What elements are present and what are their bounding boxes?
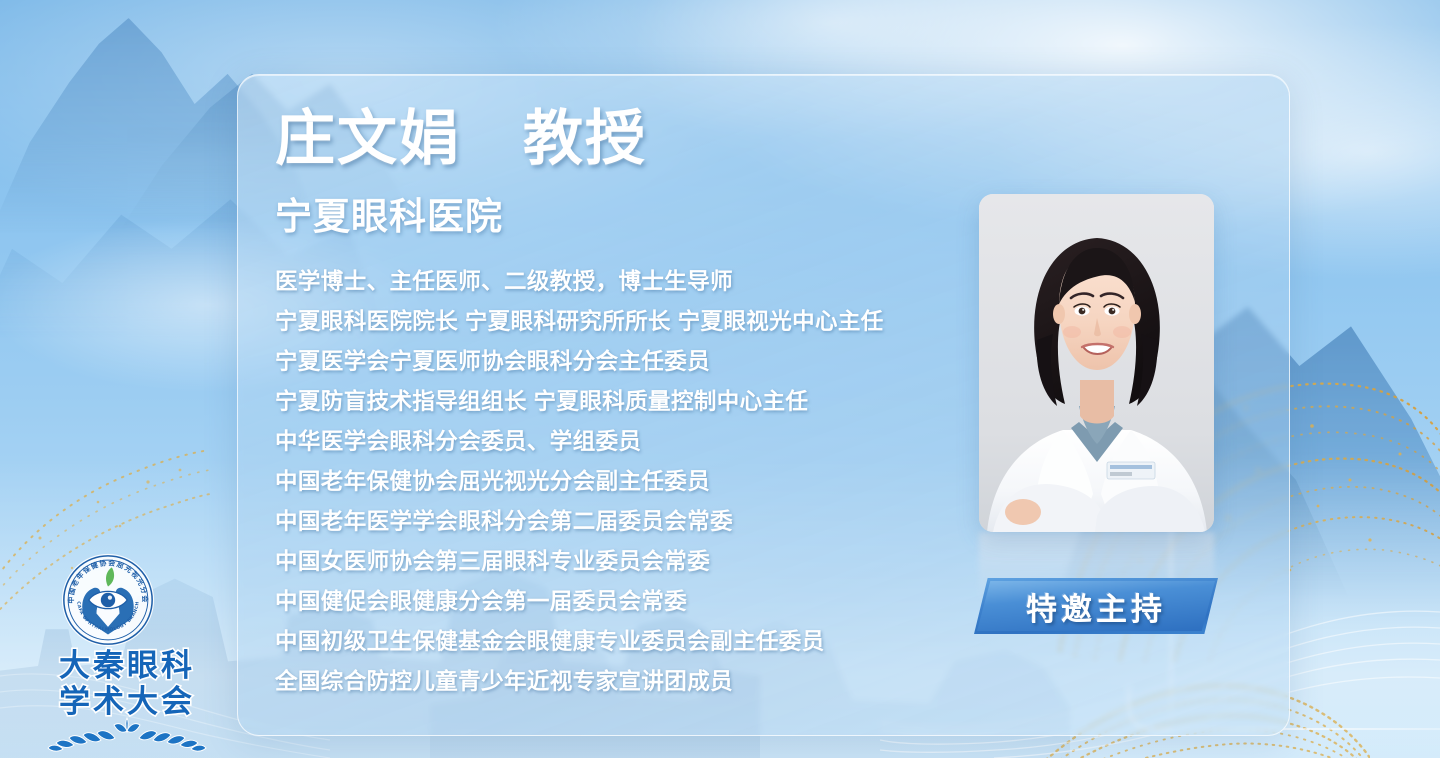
credential-item: 中华医学会眼科分会委员、学组委员 bbox=[275, 422, 975, 462]
speaker-affiliation: 宁夏眼科医院 bbox=[275, 186, 975, 240]
association-seal: 中国老年保健协会屈光视光分会 CAFA OPHTHALMOLOGY BRANCH bbox=[60, 552, 156, 648]
association-seal-icon: 中国老年保健协会屈光视光分会 CAFA OPHTHALMOLOGY BRANCH bbox=[60, 552, 156, 648]
credential-item: 宁夏防盲技术指导组组长 宁夏眼科质量控制中心主任 bbox=[275, 382, 975, 422]
conference-line1: 大秦眼科 bbox=[59, 648, 195, 684]
speaker-info-card: 庄文娟 教授 宁夏眼科医院 医学博士、主任医师、二级教授，博士生导师 宁夏眼科医… bbox=[237, 74, 1290, 736]
conference-title-icon: 大秦眼科 学术大会 bbox=[46, 644, 208, 752]
speaker-portrait-frame bbox=[979, 194, 1214, 532]
speaker-name: 庄文娟 教授 bbox=[275, 107, 975, 170]
credential-item: 中国健促会眼健康分会第一届委员会常委 bbox=[275, 582, 975, 622]
credentials-list: 医学博士、主任医师、二级教授，博士生导师 宁夏眼科医院院长 宁夏眼科研究所所长 … bbox=[275, 262, 975, 702]
role-badge: 特邀主持 bbox=[974, 578, 1218, 634]
speaker-portrait bbox=[979, 194, 1214, 532]
conference-line2: 学术大会 bbox=[59, 684, 195, 720]
conference-title-logo: 大秦眼科 学术大会 bbox=[46, 644, 208, 752]
credential-item: 宁夏医学会宁夏医师协会眼科分会主任委员 bbox=[275, 342, 975, 382]
credential-item: 中国老年医学学会眼科分会第二届委员会常委 bbox=[275, 502, 975, 542]
portrait-illustration-icon bbox=[979, 194, 1214, 532]
speaker-text-column: 庄文娟 教授 宁夏眼科医院 医学博士、主任医师、二级教授，博士生导师 宁夏眼科医… bbox=[275, 107, 975, 702]
credential-item: 中国女医师协会第三届眼科专业委员会常委 bbox=[275, 542, 975, 582]
credential-item: 中国初级卫生保健基金会眼健康专业委员会副主任委员 bbox=[275, 622, 975, 662]
credential-item: 宁夏眼科医院院长 宁夏眼科研究所所长 宁夏眼视光中心主任 bbox=[275, 302, 975, 342]
slide-stage: 庄文娟 教授 宁夏眼科医院 医学博士、主任医师、二级教授，博士生导师 宁夏眼科医… bbox=[0, 0, 1440, 758]
badge-label: 特邀主持 bbox=[974, 578, 1218, 634]
credential-item: 医学博士、主任医师、二级教授，博士生导师 bbox=[275, 262, 975, 302]
credential-item: 全国综合防控儿童青少年近视专家宣讲团成员 bbox=[275, 662, 975, 702]
credential-item: 中国老年保健协会屈光视光分会副主任委员 bbox=[275, 462, 975, 502]
conference-logo-block: 中国老年保健协会屈光视光分会 CAFA OPHTHALMOLOGY BRANCH… bbox=[46, 552, 216, 752]
